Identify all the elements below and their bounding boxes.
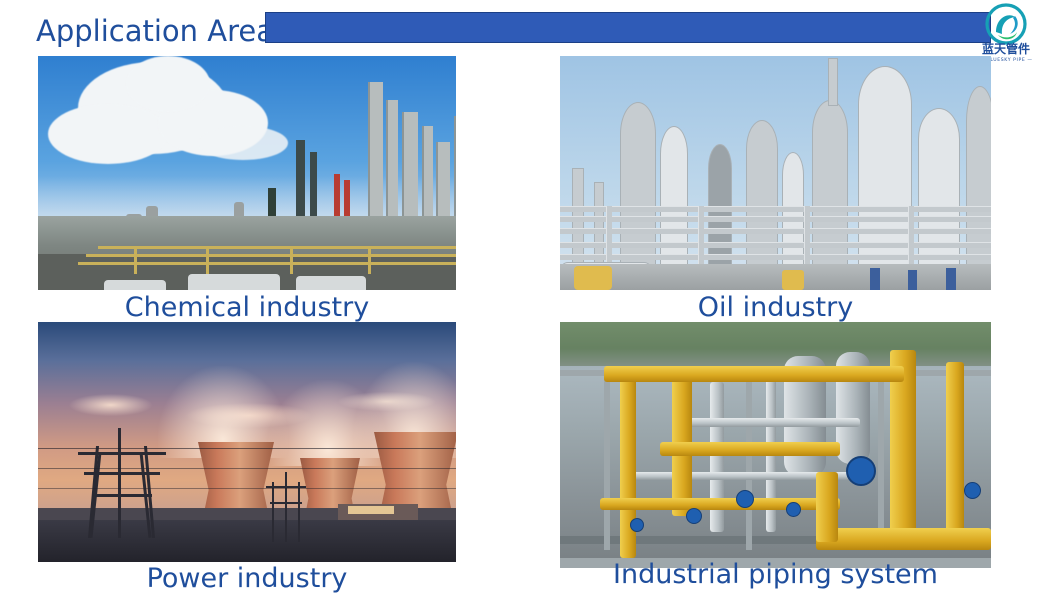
page-title: Application Area： xyxy=(36,8,303,50)
title-accent-bar xyxy=(265,12,991,43)
tree-line xyxy=(560,322,991,366)
oil-refinery-photo xyxy=(560,56,991,290)
storage-vessel xyxy=(296,276,366,290)
power-line xyxy=(38,448,456,449)
yellow-pipe xyxy=(816,472,838,542)
valve-handwheel xyxy=(786,502,801,517)
yellow-pipe xyxy=(672,366,692,516)
caption-power: Power industry xyxy=(38,563,456,594)
yellow-pipe xyxy=(946,362,964,538)
yellow-unit xyxy=(782,270,804,290)
caption-oil: Oil industry xyxy=(560,292,991,323)
power-line xyxy=(38,488,456,489)
transmission-pylon xyxy=(264,472,308,542)
power-plant-photo xyxy=(38,322,456,562)
valve-handwheel xyxy=(846,456,876,486)
valve-handwheel xyxy=(630,518,644,532)
cloud-icon xyxy=(126,56,210,112)
yellow-pipe xyxy=(600,498,840,510)
industrial-piping-photo xyxy=(560,322,991,568)
storage-vessel xyxy=(104,280,166,290)
fractionation-column xyxy=(812,100,848,280)
plant-ground xyxy=(560,264,991,290)
yellow-pipe xyxy=(660,442,840,456)
transmission-pylon xyxy=(78,428,168,538)
svg-text:蓝天管件: 蓝天管件 xyxy=(982,41,1030,56)
valve-handwheel xyxy=(736,490,754,508)
valve-handwheel xyxy=(686,508,702,524)
worker-figure xyxy=(908,270,917,290)
yellow-pipe xyxy=(816,528,991,550)
power-line xyxy=(38,468,456,469)
yellow-pipe xyxy=(604,366,904,382)
company-logo: 蓝天管件 — BLUESKY PIPE — xyxy=(962,2,1050,64)
caption-piping: Industrial piping system xyxy=(560,559,991,590)
storage-vessel xyxy=(188,274,280,290)
grey-pipe xyxy=(680,418,860,427)
valve-handwheel xyxy=(964,482,981,499)
cloud-icon xyxy=(198,126,288,160)
stack xyxy=(828,58,838,106)
cloud-icon xyxy=(48,104,168,164)
page-header: Application Area： 蓝天管件 — BLUESKY PIPE — xyxy=(0,0,1060,52)
caption-chemical: Chemical industry xyxy=(38,292,456,323)
yellow-unit xyxy=(574,266,612,290)
worker-figure xyxy=(946,268,956,290)
chemical-plant-photo xyxy=(38,56,456,290)
logo-mark xyxy=(987,5,1025,43)
plant-lights xyxy=(348,506,394,514)
worker-figure xyxy=(870,268,880,290)
fractionation-column xyxy=(966,86,991,280)
